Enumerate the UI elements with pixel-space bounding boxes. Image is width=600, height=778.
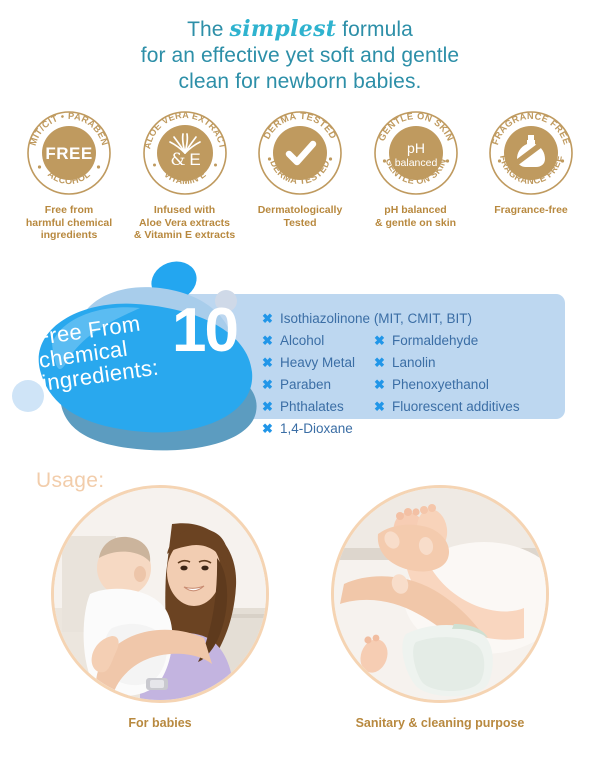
fragrance-free-badge-icon: FRAGRANCE FREE FRAGRANCE FREE (487, 109, 575, 197)
svg-text:FREE: FREE (45, 144, 92, 163)
certification-badges-row: MIT/CIT • PARABEN ALCOHOL FREE Free from… (0, 95, 600, 242)
caption-line: Infused with (130, 204, 240, 217)
x-icon: ✖ (374, 399, 386, 415)
list-row: ✖ 1,4-Dioxane (262, 418, 562, 440)
headline-line-1: The simplest formula (187, 18, 413, 41)
list-row: ✖ Alcohol ✖ Formaldehyde (262, 330, 562, 352)
list-item: ✖ Heavy Metal (262, 355, 374, 371)
caption-line: pH balanced (361, 204, 471, 217)
headline-line-2: for an effective yet soft and gentle (0, 43, 600, 69)
blob-dot-left (12, 380, 44, 412)
list-item-label: Formaldehyde (392, 333, 478, 349)
list-item: ✖ Alcohol (262, 333, 374, 349)
derma-tested-badge-icon: DERMA TESTED DERMA TESTED (256, 109, 344, 197)
list-item: ✖ Phenoxyethanol (374, 377, 489, 393)
list-item: ✖ Lanolin (374, 355, 436, 371)
list-row: ✖ Heavy Metal ✖ Lanolin (262, 352, 562, 374)
list-item-label: Heavy Metal (280, 355, 355, 371)
badge-fragrance-free-caption: Fragrance-free (476, 204, 586, 217)
caption-line: Tested (245, 217, 355, 230)
badge-ph-balanced-caption: pH balanced & gentle on skin (361, 204, 471, 229)
list-item: ✖ Paraben (262, 377, 374, 393)
caption-line: Aloe Vera extracts (130, 217, 240, 230)
list-item: ✖ Fluorescent additives (374, 399, 520, 415)
list-item-label: Paraben (280, 377, 331, 393)
svg-text:pH: pH (407, 140, 425, 156)
svg-text:balanced: balanced (394, 157, 437, 169)
headline-text-post: formula (336, 18, 413, 41)
aloe-vera-badge-ring: ALOE VERA EXTRACT VITAMIN E & E (141, 109, 229, 197)
headline-emphasis: simplest (230, 16, 337, 42)
x-icon: ✖ (374, 377, 386, 393)
list-row: ✖ Isothiazolinone (MIT, CMIT, BIT) (262, 308, 562, 330)
usage-section: Usage: (0, 465, 600, 730)
photo-caption: For babies (50, 716, 270, 730)
list-row: ✖ Paraben ✖ Phenoxyethanol (262, 374, 562, 396)
caption-line: Free from (14, 204, 124, 217)
usage-photos: For babies (0, 465, 600, 730)
usage-photo-for-babies: For babies (50, 485, 270, 730)
caption-line: Fragrance-free (476, 204, 586, 217)
x-icon: ✖ (374, 355, 386, 371)
caption-line: harmful chemical (14, 217, 124, 230)
fragrance-free-badge-ring: FRAGRANCE FREE FRAGRANCE FREE (487, 109, 575, 197)
badge-derma-tested: DERMA TESTED DERMA TESTED Dermatological… (245, 109, 355, 229)
headline-line-3: clean for newborn babies. (0, 69, 600, 95)
x-icon: ✖ (262, 377, 274, 393)
headline-text-pre: The (187, 18, 229, 41)
caption-line: ingredients (14, 229, 124, 242)
photo-caption: Sanitary & cleaning purpose (330, 716, 550, 730)
free-from-count: 10 (172, 300, 237, 362)
x-icon: ✖ (262, 355, 274, 371)
badge-free: MIT/CIT • PARABEN ALCOHOL FREE Free from… (14, 109, 124, 242)
usage-photo-sanitary-cleaning: Sanitary & cleaning purpose (330, 485, 550, 730)
list-item: ✖ Phthalates (262, 399, 374, 415)
badge-aloe-vera-caption: Infused with Aloe Vera extracts & Vitami… (130, 204, 240, 242)
svg-text:&: & (170, 150, 185, 170)
badge-derma-tested-caption: Dermatologically Tested (245, 204, 355, 229)
usage-label: Usage: (36, 469, 104, 493)
mother-and-baby-photo (54, 488, 266, 700)
ph-balanced-badge-icon: GENTLE ON SKIN GENTLE ON SKIN pH balance… (372, 109, 460, 197)
aloe-vera-badge-icon: ALOE VERA EXTRACT VITAMIN E & E (141, 109, 229, 197)
list-item-label: Phenoxyethanol (392, 377, 489, 393)
free-badge-ring: MIT/CIT • PARABEN ALCOHOL FREE (25, 109, 113, 197)
ph-balanced-badge-ring: GENTLE ON SKIN GENTLE ON SKIN pH balance… (372, 109, 460, 197)
list-row: ✖ Phthalates ✖ Fluorescent additives (262, 396, 562, 418)
list-item-label: Isothiazolinone (MIT, CMIT, BIT) (280, 311, 472, 327)
photo-circle (331, 485, 549, 703)
caption-line: & Vitamin E extracts (130, 229, 240, 242)
banned-ingredients-list: ✖ Isothiazolinone (MIT, CMIT, BIT) ✖ Alc… (262, 308, 562, 440)
list-item: ✖ 1,4-Dioxane (262, 421, 374, 437)
list-item-label: Fluorescent additives (392, 399, 520, 415)
photo-circle (51, 485, 269, 703)
list-item-label: Phthalates (280, 399, 344, 415)
page-headline: The simplest formula for an effective ye… (0, 0, 600, 95)
x-icon: ✖ (262, 333, 274, 349)
caption-line: & gentle on skin (361, 217, 471, 230)
badge-ph-balanced: GENTLE ON SKIN GENTLE ON SKIN pH balance… (361, 109, 471, 229)
list-item-label: Lanolin (392, 355, 436, 371)
free-from-section: Free From chemical ingredients: 10 ✖ Iso… (0, 248, 600, 463)
x-icon: ✖ (262, 399, 274, 415)
list-item-label: Alcohol (280, 333, 324, 349)
svg-text:E: E (189, 150, 200, 169)
caption-line: Dermatologically (245, 204, 355, 217)
list-item: ✖ Isothiazolinone (MIT, CMIT, BIT) (262, 311, 472, 327)
x-icon: ✖ (374, 333, 386, 349)
badge-fragrance-free: FRAGRANCE FREE FRAGRANCE FREE Fragrance-… (476, 109, 586, 217)
free-badge-icon: MIT/CIT • PARABEN ALCOHOL FREE (25, 109, 113, 197)
derma-tested-badge-ring: DERMA TESTED DERMA TESTED (256, 109, 344, 197)
x-icon: ✖ (262, 311, 274, 327)
badge-aloe-vera: ALOE VERA EXTRACT VITAMIN E & E (130, 109, 240, 242)
list-item: ✖ Formaldehyde (374, 333, 478, 349)
list-item-label: 1,4-Dioxane (280, 421, 353, 437)
baby-feet-and-diaper-photo (334, 488, 546, 700)
badge-free-caption: Free from harmful chemical ingredients (14, 204, 124, 242)
x-icon: ✖ (262, 421, 274, 437)
